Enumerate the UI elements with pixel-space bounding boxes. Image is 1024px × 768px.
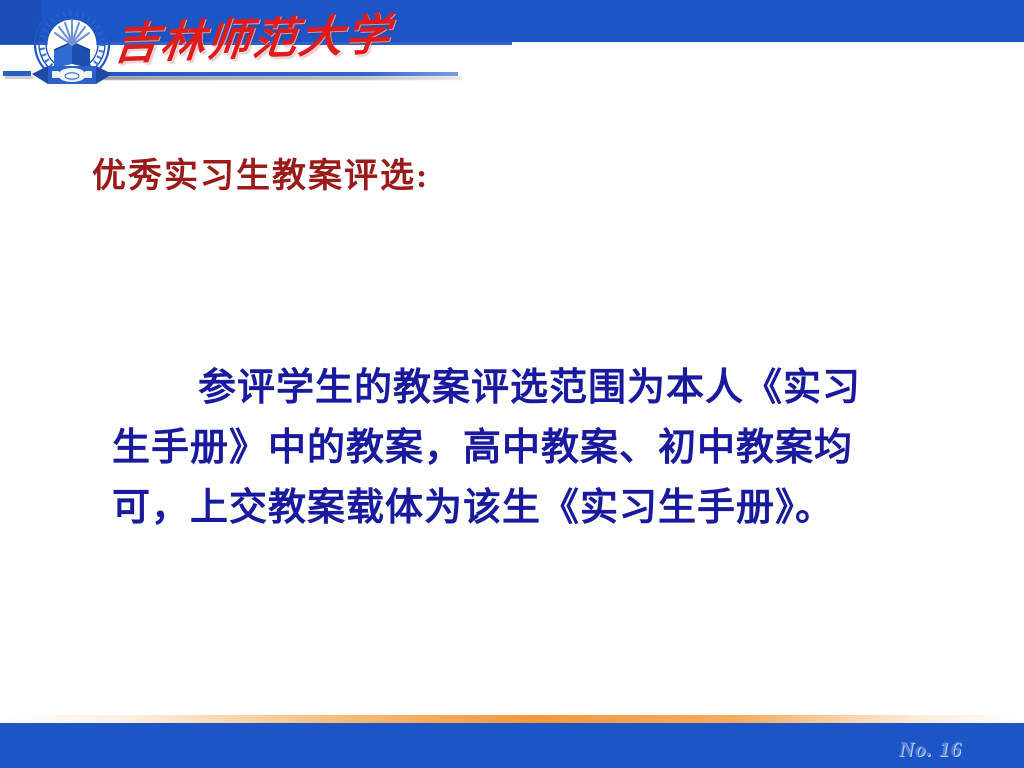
university-name: 吉林师范大学 bbox=[111, 7, 368, 74]
body-line-3: 可，上交教案载体为该生《实习生手册》。 bbox=[112, 478, 924, 538]
footer-orange-rule bbox=[0, 715, 1024, 723]
slide-header: 吉林师范大学 bbox=[0, 0, 1024, 110]
header-rule-shadow bbox=[102, 76, 462, 80]
slide-number: No. 16 bbox=[899, 737, 962, 762]
header-horizontal-rule bbox=[98, 72, 458, 76]
university-emblem-icon bbox=[24, 2, 120, 98]
slide-heading: 优秀实习生教案评选: bbox=[92, 148, 429, 197]
slide-footer: No. 16 bbox=[0, 715, 1024, 768]
presentation-slide: 吉林师范大学 优秀实习生教案评选: 参评学生的教案评选范围为本人《实习 生手册》… bbox=[0, 0, 1024, 768]
body-line-2: 生手册》中的教案，高中教案、初中教案均 bbox=[112, 418, 924, 478]
body-paragraph: 参评学生的教案评选范围为本人《实习 生手册》中的教案，高中教案、初中教案均 可，… bbox=[112, 358, 924, 538]
slide-content: 优秀实习生教案评选: 参评学生的教案评选范围为本人《实习 生手册》中的教案，高中… bbox=[0, 110, 1024, 715]
body-line-1: 参评学生的教案评选范围为本人《实习 bbox=[112, 358, 924, 418]
footer-blue-band bbox=[0, 723, 1024, 768]
